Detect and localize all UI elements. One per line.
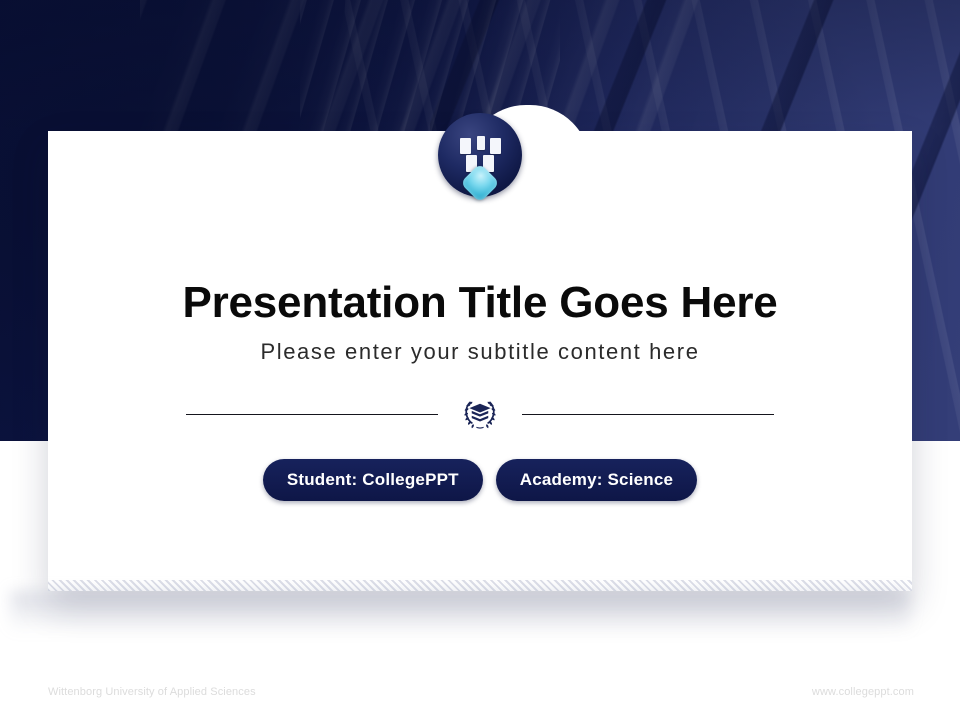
page-title: Presentation Title Goes Here <box>0 276 960 330</box>
graduation-cap-laurel-icon <box>458 392 502 436</box>
brand-logo <box>438 113 522 197</box>
footer-university-name: Wittenborg University of Applied Science… <box>48 686 256 698</box>
card-hatched-footer-strip <box>48 580 912 591</box>
divider-rule-left <box>186 414 438 415</box>
divider <box>0 392 960 436</box>
card-drop-shadow <box>10 591 910 633</box>
badge-academy[interactable]: Academy: Science <box>496 459 697 501</box>
badge-student[interactable]: Student: CollegePPT <box>263 459 483 501</box>
page-subtitle: Please enter your subtitle content here <box>0 339 960 365</box>
divider-rule-right <box>522 414 774 415</box>
presentation-slide: Presentation Title Goes Here Please ente… <box>0 0 960 720</box>
footer-website-url: www.collegeppt.com <box>812 686 914 698</box>
badge-row: Student: CollegePPT Academy: Science <box>0 459 960 501</box>
